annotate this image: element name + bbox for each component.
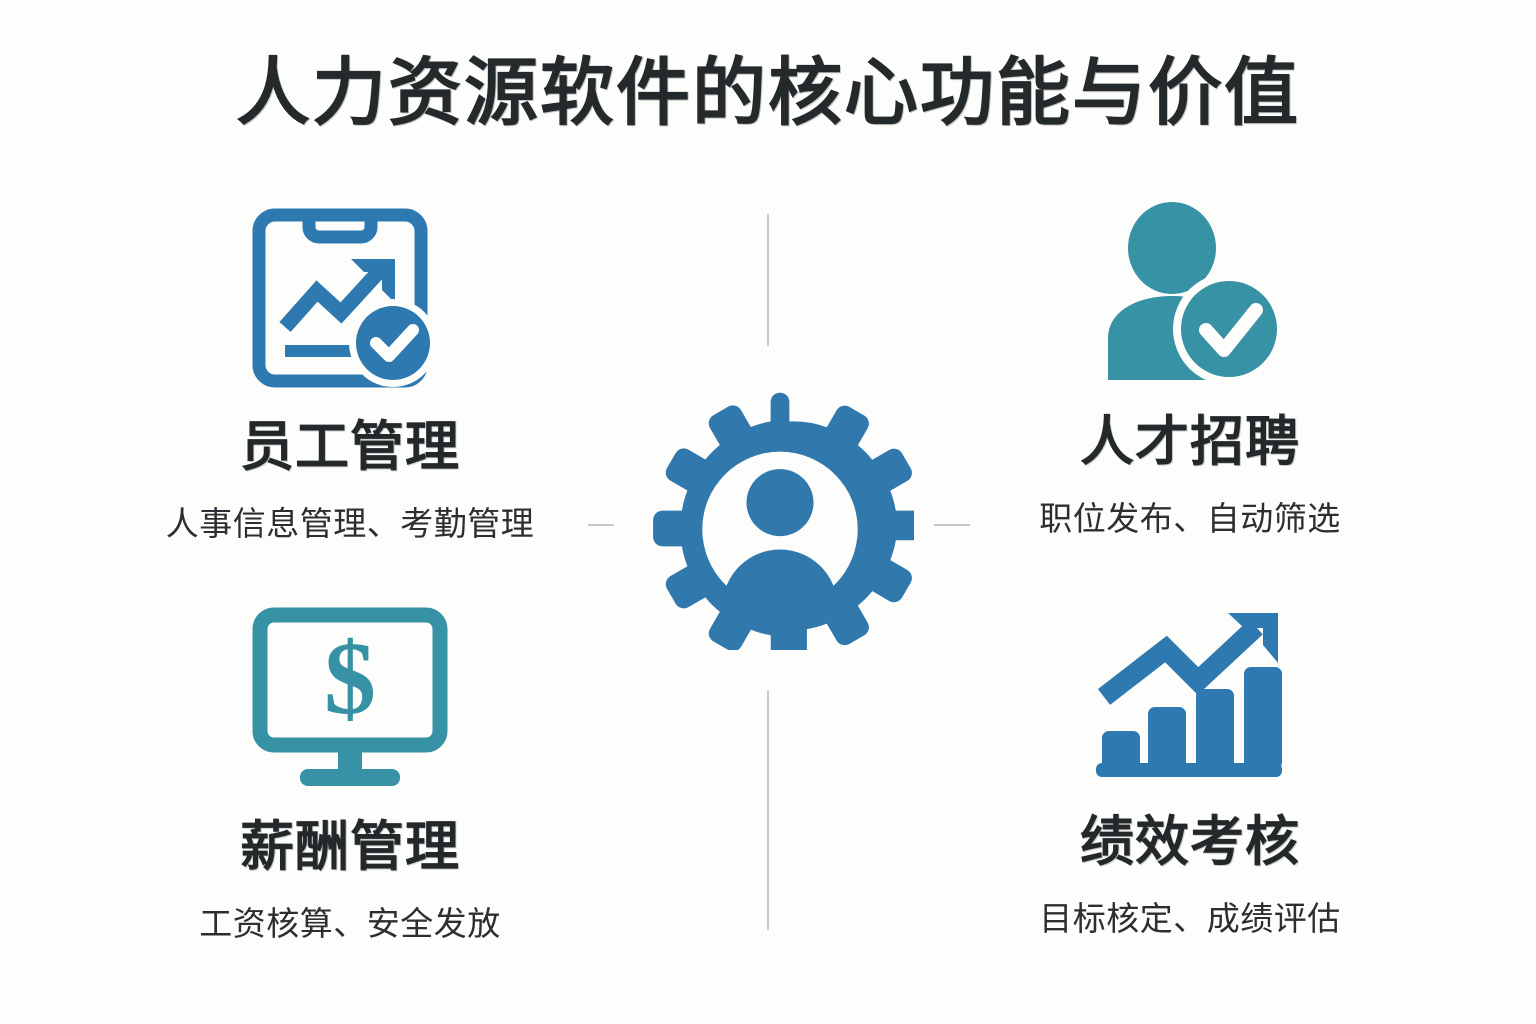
card-icon-wrapper <box>245 200 455 396</box>
feature-card-employee-management[interactable]: 员工管理 人事信息管理、考勤管理 <box>90 200 610 545</box>
gear-person-icon <box>646 382 914 650</box>
card-heading: 薪酬管理 <box>240 802 460 881</box>
card-subtitle: 工资核算、安全发放 <box>199 897 501 945</box>
monitor-dollar-icon: $ <box>250 603 450 793</box>
infographic-canvas: 人力资源软件的核心功能与价值 <box>0 0 1536 1024</box>
card-subtitle: 人事信息管理、考勤管理 <box>166 497 535 545</box>
page-title: 人力资源软件的核心功能与价值 <box>0 52 1536 133</box>
connector-line-bottom <box>767 690 769 930</box>
card-heading: 绩效考核 <box>1080 797 1300 876</box>
central-hub <box>646 382 914 650</box>
card-subtitle: 目标核定、成绩评估 <box>1039 892 1341 940</box>
clipboard-chart-check-icon <box>245 203 455 393</box>
card-subtitle: 职位发布、自动筛选 <box>1039 492 1341 540</box>
card-heading: 人才招聘 <box>1080 397 1300 476</box>
card-heading: 员工管理 <box>240 402 460 481</box>
person-check-icon <box>1090 198 1290 388</box>
feature-card-payroll-management[interactable]: $ 薪酬管理 工资核算、安全发放 <box>90 600 610 945</box>
svg-text:$: $ <box>324 621 376 736</box>
card-icon-wrapper: $ <box>250 600 450 796</box>
card-icon-wrapper <box>1088 595 1293 791</box>
connector-line-top <box>767 214 769 346</box>
card-icon-wrapper <box>1090 195 1290 391</box>
feature-card-talent-recruitment[interactable]: 人才招聘 职位发布、自动筛选 <box>930 195 1450 540</box>
feature-card-performance-review[interactable]: 绩效考核 目标核定、成绩评估 <box>930 595 1450 940</box>
bar-chart-growth-icon <box>1088 601 1293 786</box>
